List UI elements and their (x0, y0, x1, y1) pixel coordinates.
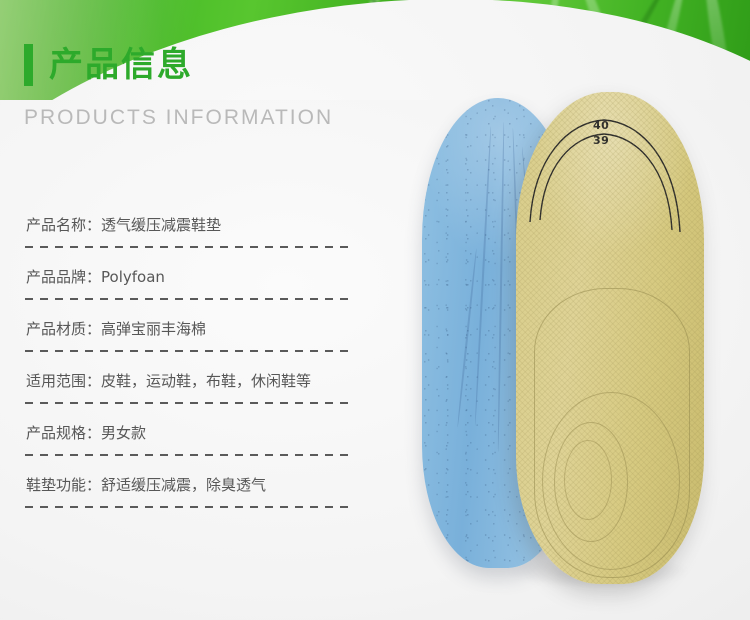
product-information-page: 产品信息 PRODUCTS INFORMATION 产品名称：透气缓压减震鞋垫 … (0, 0, 750, 620)
spec-text: 适用范围：皮鞋，运动鞋，布鞋，休闲鞋等 (25, 366, 357, 396)
heel-cushion-ring-inner (564, 440, 612, 520)
size-label-40: 40 (593, 120, 609, 131)
spec-text: 产品规格：男女款 (25, 418, 357, 448)
heel-cushion-ring-middle (554, 422, 628, 542)
beige-fabric-insole: 40 39 (516, 92, 704, 584)
insole-pair-photo: 40 39 (398, 84, 750, 592)
spec-text: 产品名称：透气缓压减震鞋垫 (25, 210, 357, 240)
heel-cushion-ring-outer (542, 392, 680, 570)
spec-text: 产品品牌：Polyfoan (25, 262, 357, 292)
spec-row-function: 鞋垫功能：舒适缓压减震，除臭透气 (25, 470, 357, 522)
spec-text: 鞋垫功能：舒适缓压减震，除臭透气 (25, 470, 357, 500)
page-title-en: PRODUCTS INFORMATION (24, 106, 333, 130)
spec-divider (25, 454, 355, 456)
spec-divider (25, 350, 355, 352)
spec-row-application: 适用范围：皮鞋，运动鞋，布鞋，休闲鞋等 (25, 366, 357, 418)
spec-divider (25, 402, 355, 404)
spec-text: 产品材质：高弹宝丽丰海棉 (25, 314, 357, 344)
spec-row-material: 产品材质：高弹宝丽丰海棉 (25, 314, 357, 366)
spec-divider (25, 506, 355, 508)
spec-row-product-name: 产品名称：透气缓压减震鞋垫 (25, 210, 357, 262)
spec-row-brand: 产品品牌：Polyfoan (25, 262, 357, 314)
spec-divider (25, 246, 355, 248)
page-title: 产品信息 (24, 44, 193, 86)
spec-row-specification: 产品规格：男女款 (25, 418, 357, 470)
size-trim-lines-icon (516, 92, 704, 292)
spec-divider (25, 298, 355, 300)
arch-outline (534, 288, 690, 578)
title-accent-bar (24, 44, 33, 86)
page-title-cn: 产品信息 (49, 48, 193, 82)
specification-list: 产品名称：透气缓压减震鞋垫 产品品牌：Polyfoan 产品材质：高弹宝丽丰海棉… (25, 210, 357, 522)
size-label-39: 39 (593, 135, 609, 146)
